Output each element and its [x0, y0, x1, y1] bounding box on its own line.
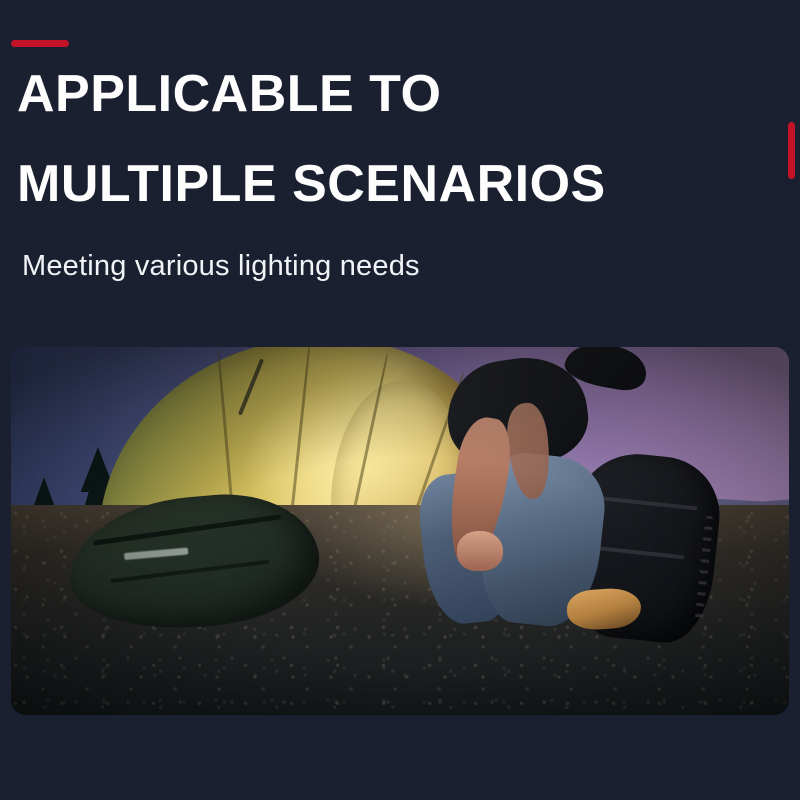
scenario-photo-card: OUTDOOR CAMPING: [11, 347, 789, 715]
page-title: APPLICABLE TO MULTIPLE SCENARIOS: [17, 62, 777, 216]
person-hand: [457, 531, 503, 571]
title-line-1: APPLICABLE TO: [17, 62, 777, 126]
accent-bar-right: [788, 122, 795, 179]
backpack-logo: [124, 547, 188, 560]
person-boot: [566, 586, 643, 631]
camping-photo: [11, 347, 789, 715]
promo-banner: APPLICABLE TO MULTIPLE SCENARIOS Meeting…: [0, 0, 800, 800]
backpack-strap: [93, 514, 282, 545]
accent-bar-top: [11, 40, 69, 47]
backpack-strap: [110, 560, 269, 583]
title-line-2: MULTIPLE SCENARIOS: [17, 152, 777, 216]
tent-pole: [238, 358, 264, 415]
page-subtitle: Meeting various lighting needs: [22, 248, 420, 284]
camper-person: [413, 347, 663, 643]
